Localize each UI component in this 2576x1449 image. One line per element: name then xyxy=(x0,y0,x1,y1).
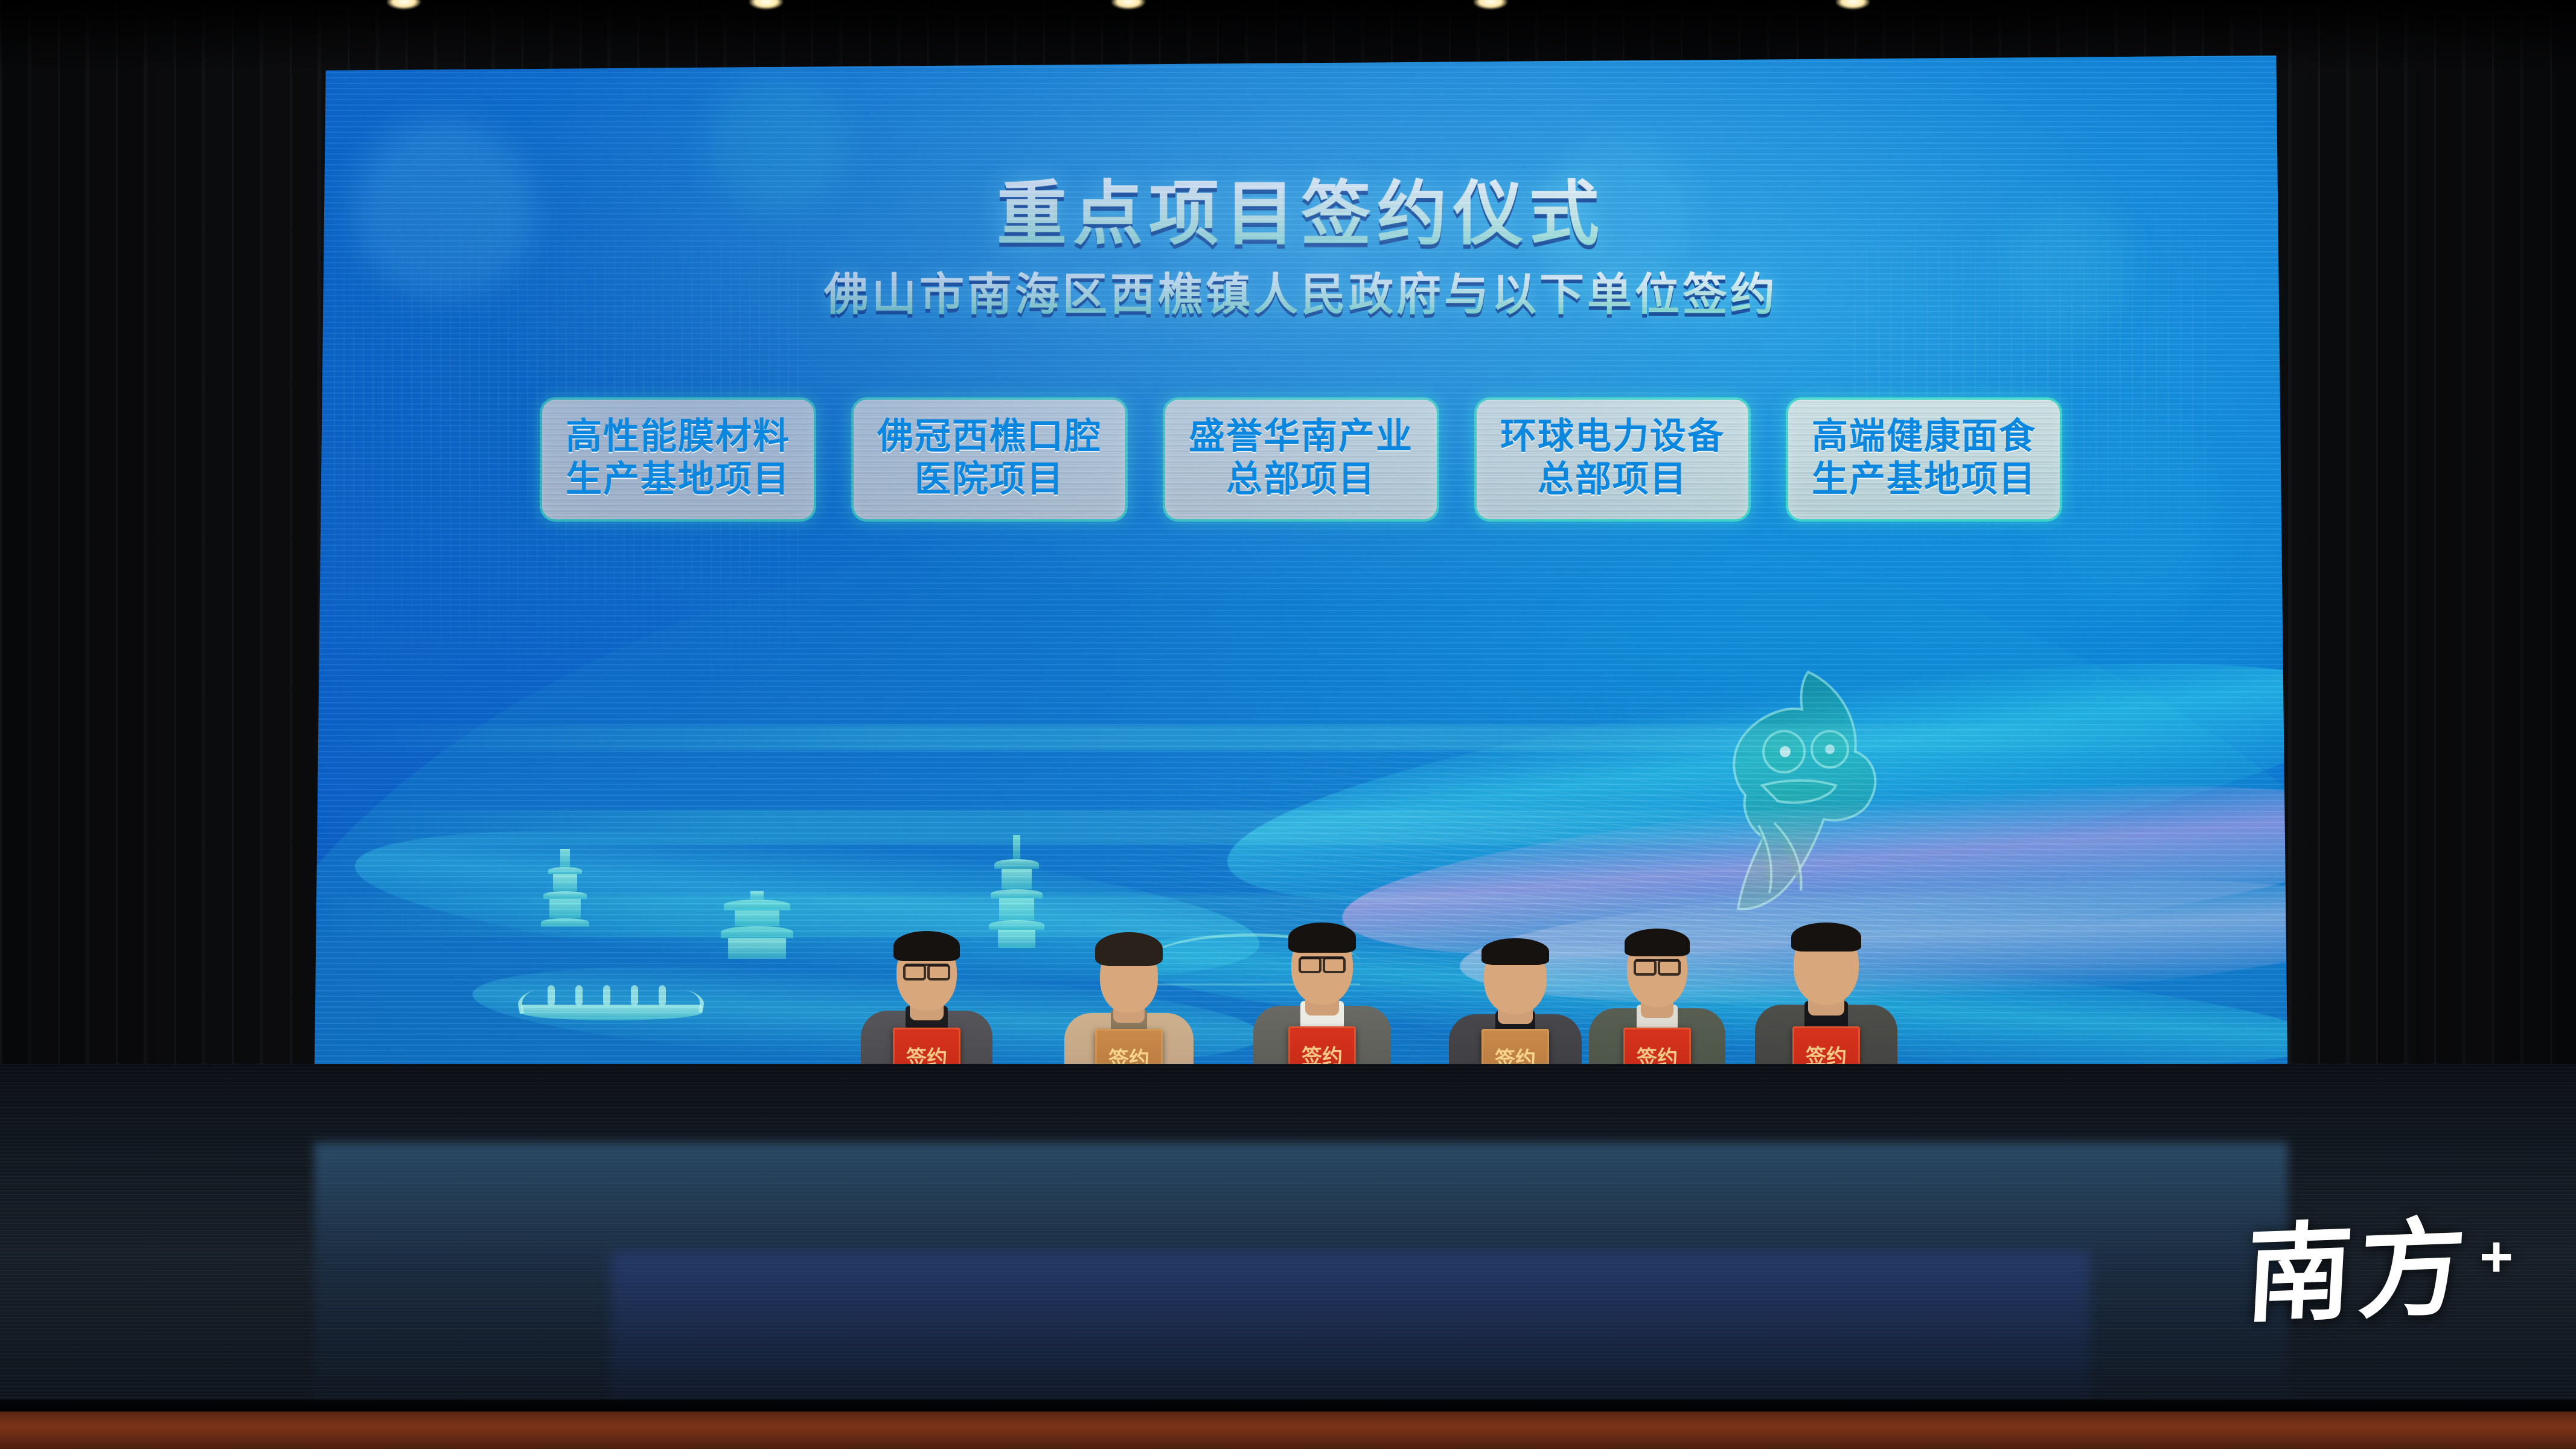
project-chip-line2: 总部项目 xyxy=(1483,458,1742,501)
project-chip-line2: 医院项目 xyxy=(860,458,1119,501)
ceremony-title: 重点项目签约仪式 xyxy=(314,157,2288,258)
watermark-characters: 南方 xyxy=(2243,1221,2473,1326)
project-chip-line1: 佛冠西樵口腔 xyxy=(860,415,1119,458)
project-chip: 佛冠西樵口腔 医院项目 xyxy=(851,397,1128,522)
lion-dance-head-icon xyxy=(1711,661,1911,921)
ribbon-wave-icon xyxy=(1215,614,2288,953)
ceremony-subtitle: 佛山市南海区西樵镇人民政府与以下单位签约 xyxy=(314,258,2288,323)
water-band xyxy=(314,725,2288,750)
person-hair xyxy=(1288,923,1356,953)
person-hair xyxy=(1791,923,1861,952)
floor-reflection-table xyxy=(611,1251,2090,1402)
eyeglasses-icon xyxy=(904,964,949,976)
water-band xyxy=(314,810,2288,844)
project-chip-line1: 盛誉华南产业 xyxy=(1171,415,1431,458)
project-chip-line1: 高端健康面食 xyxy=(1794,415,2054,458)
orchestra-pit-wall xyxy=(0,1412,2576,1449)
person-hair xyxy=(893,931,960,961)
project-chip-line2: 总部项目 xyxy=(1171,458,1431,501)
stage-photo: 重点项目签约仪式 佛山市南海区西樵镇人民政府与以下单位签约 高性能膜材料 生产基… xyxy=(0,0,2576,1449)
stage-edge xyxy=(0,1399,2576,1413)
person-hair xyxy=(1481,938,1549,965)
pagoda-tower-icon xyxy=(541,849,589,927)
project-chip: 环球电力设备 总部项目 xyxy=(1474,397,1751,522)
project-chip-row: 高性能膜材料 生产基地项目 佛冠西樵口腔 医院项目 盛誉华南产业 总部项目 环球… xyxy=(314,397,2288,522)
project-chip-line1: 高性能膜材料 xyxy=(548,415,808,458)
project-chip-line1: 环球电力设备 xyxy=(1483,415,1742,458)
nanfang-plus-watermark: 南方 + xyxy=(2246,1224,2513,1322)
pagoda-tower-icon xyxy=(989,835,1044,948)
project-chip: 盛誉华南产业 总部项目 xyxy=(1163,397,1439,522)
dragon-boat-icon xyxy=(521,968,702,1020)
project-chip: 高端健康面食 生产基地项目 xyxy=(1786,397,2062,522)
project-chip: 高性能膜材料 生产基地项目 xyxy=(540,397,816,522)
eyeglasses-icon xyxy=(1635,959,1680,971)
person-hair xyxy=(1625,929,1690,956)
project-chip-line2: 生产基地项目 xyxy=(548,458,808,501)
project-chip-line2: 生产基地项目 xyxy=(1794,458,2054,501)
person-hair xyxy=(1095,932,1163,966)
pagoda-tower-icon xyxy=(721,891,793,959)
eyeglasses-icon xyxy=(1300,956,1344,968)
watermark-plus-icon: + xyxy=(2479,1228,2513,1286)
